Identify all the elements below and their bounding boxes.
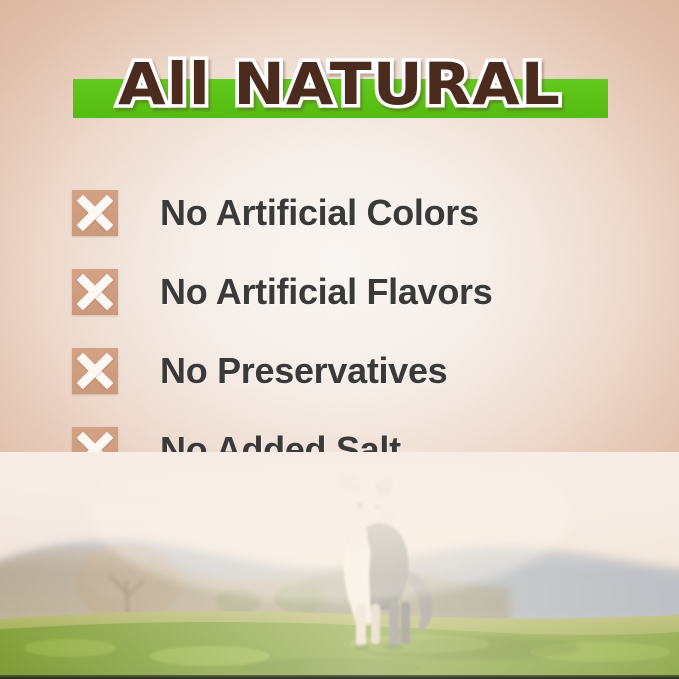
x-mark-icon: [72, 269, 118, 315]
list-item: No Artificial Flavors: [72, 252, 632, 331]
all-natural-poster: All NATURAL No Artificial Colors No Arti…: [0, 0, 679, 679]
claims-list: No Artificial Colors No Artificial Flavo…: [72, 173, 632, 489]
list-item: No Artificial Colors: [72, 173, 632, 252]
claim-label: No Artificial Colors: [160, 192, 479, 234]
headline-banner: All NATURAL: [0, 48, 679, 128]
x-mark-icon: [72, 190, 118, 236]
x-mark-icon: [72, 348, 118, 394]
claim-label: No Artificial Flavors: [160, 271, 492, 313]
claim-label: No Preservatives: [160, 350, 447, 392]
dog-landscape-photo: [0, 452, 679, 679]
page-title: All NATURAL: [0, 48, 679, 120]
list-item: No Preservatives: [72, 331, 632, 410]
